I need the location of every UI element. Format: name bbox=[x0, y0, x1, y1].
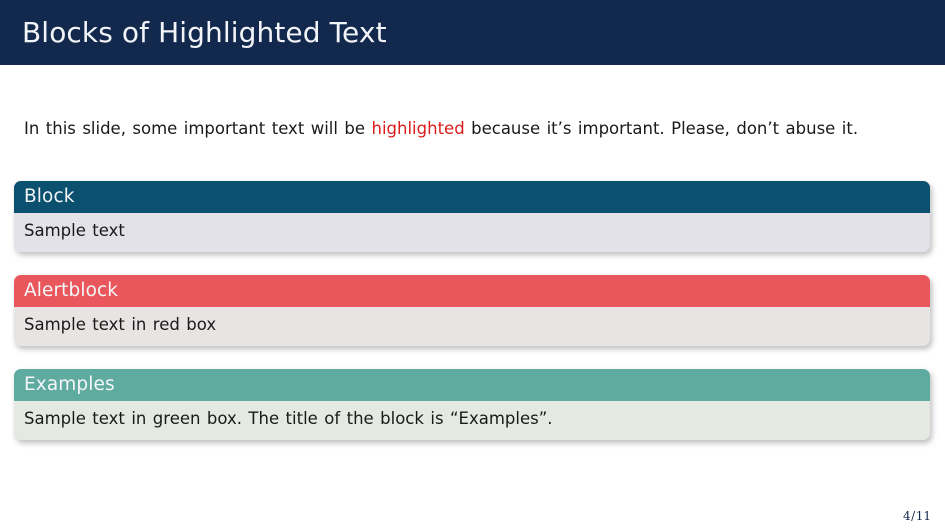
page-number-total: 11 bbox=[916, 509, 931, 523]
paragraph-text-before-highlight: In this slide, some important text will … bbox=[24, 119, 372, 138]
slide-title-bar: Blocks of Highlighted Text bbox=[0, 0, 945, 65]
slide-page-number: 4/11 bbox=[903, 508, 931, 524]
presentation-slide: Blocks of Highlighted Text In this slide… bbox=[0, 0, 945, 532]
block-standard: Block Sample text bbox=[14, 181, 930, 252]
block-alert-title: Alertblock bbox=[14, 275, 930, 307]
slide-title: Blocks of Highlighted Text bbox=[22, 16, 387, 50]
block-example-body: Sample text in green box. The title of t… bbox=[14, 401, 930, 440]
block-example: Examples Sample text in green box. The t… bbox=[14, 369, 930, 440]
slide-body-paragraph: In this slide, some important text will … bbox=[24, 116, 900, 142]
block-alert: Alertblock Sample text in red box bbox=[14, 275, 930, 346]
block-example-title: Examples bbox=[14, 369, 930, 401]
page-number-current: 4 bbox=[903, 509, 911, 523]
block-standard-title: Block bbox=[14, 181, 930, 213]
block-standard-body: Sample text bbox=[14, 213, 930, 252]
paragraph-text-after-highlight: because it’s important. Please, don’t ab… bbox=[465, 119, 858, 138]
block-alert-body: Sample text in red box bbox=[14, 307, 930, 346]
highlighted-text: highlighted bbox=[372, 119, 465, 138]
